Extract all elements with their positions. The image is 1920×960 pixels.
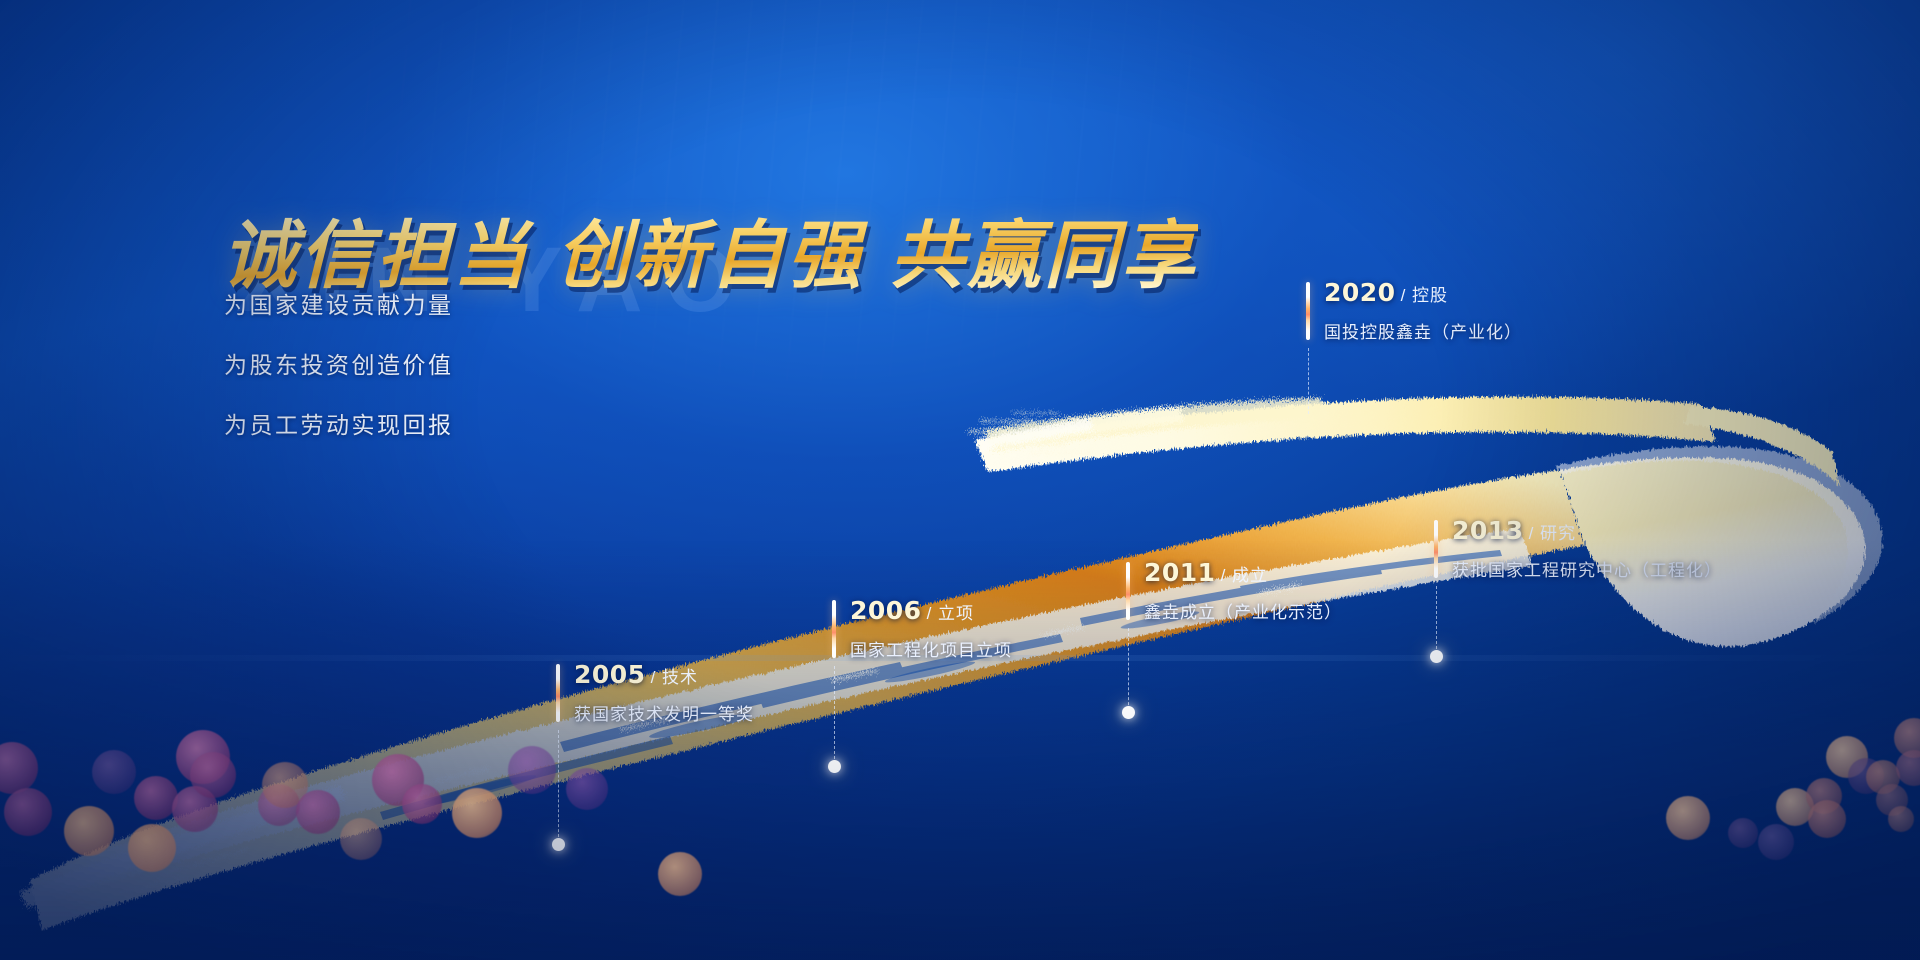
timeline-year: 2006 — [850, 596, 922, 625]
slogan-line: 为国家建设贡献力量 — [224, 286, 454, 320]
timeline-dot-2013[interactable] — [1430, 650, 1443, 663]
leader-line-2011 — [1128, 628, 1129, 710]
accent-bar-icon — [832, 600, 836, 658]
timeline-dot-2011[interactable] — [1122, 706, 1135, 719]
timeline-tag: / 立项 — [927, 604, 974, 623]
timeline-tag: / 成立 — [1221, 566, 1268, 585]
accent-bar-icon — [1306, 282, 1310, 340]
timeline-entry-text: 2005/ 技术 获国家技术发明一等奖 — [574, 660, 754, 725]
headline-part-3: 共赢同享 — [890, 213, 1198, 299]
timeline-year-row: 2013/ 研究 — [1452, 516, 1722, 545]
leader-line-2013 — [1436, 586, 1437, 654]
timeline-dot-2005[interactable] — [552, 838, 565, 851]
timeline-year: 2013 — [1452, 516, 1524, 545]
leader-line-2020 — [1308, 348, 1309, 414]
slogan-line: 为员工劳动实现回报 — [224, 406, 454, 440]
timeline-tag: / 研究 — [1529, 524, 1576, 543]
leader-line-2005 — [558, 730, 559, 842]
timeline-tag: / 控股 — [1401, 286, 1448, 305]
headline-part-2: 创新自强 — [556, 213, 864, 299]
timeline-year-row: 2005/ 技术 — [574, 660, 754, 689]
timeline-dot-2006[interactable] — [828, 760, 841, 773]
timeline-entry-text: 2020/ 控股 国投控股鑫垚（产业化） — [1324, 278, 1522, 343]
timeline-description: 国家工程化项目立项 — [850, 636, 1012, 661]
timeline-year: 2005 — [574, 660, 646, 689]
timeline-entry-text: 2006/ 立项 国家工程化项目立项 — [850, 596, 1012, 661]
timeline-description: 国投控股鑫垚（产业化） — [1324, 318, 1522, 343]
slogan-list: 为国家建设贡献力量 为股东投资创造价值 为员工劳动实现回报 — [224, 286, 454, 466]
accent-bar-icon — [1126, 562, 1130, 620]
leader-line-2006 — [834, 666, 835, 764]
timeline-year: 2020 — [1324, 278, 1396, 307]
light-streaks-overlay — [0, 0, 1920, 960]
timeline-tag: / 技术 — [651, 668, 698, 687]
timeline-description: 获批国家工程研究中心（工程化） — [1452, 556, 1722, 581]
timeline-entry-text: 2013/ 研究 获批国家工程研究中心（工程化） — [1452, 516, 1722, 581]
timeline-description: 鑫垚成立（产业化示范） — [1144, 598, 1342, 623]
timeline-year-row: 2020/ 控股 — [1324, 278, 1522, 307]
timeline-entry-text: 2011/ 成立 鑫垚成立（产业化示范） — [1144, 558, 1342, 623]
accent-bar-icon — [1434, 520, 1438, 578]
timeline-year: 2011 — [1144, 558, 1216, 587]
timeline-description: 获国家技术发明一等奖 — [574, 700, 754, 725]
accent-bar-icon — [556, 664, 560, 722]
timeline-year-row: 2006/ 立项 — [850, 596, 1012, 625]
timeline-year-row: 2011/ 成立 — [1144, 558, 1342, 587]
slogan-line: 为股东投资创造价值 — [224, 346, 454, 380]
poster-canvas: XIN YAO 诚信担当创新自强共赢同享 为国家建设贡献力量 为股东投资创造价值… — [0, 0, 1920, 960]
